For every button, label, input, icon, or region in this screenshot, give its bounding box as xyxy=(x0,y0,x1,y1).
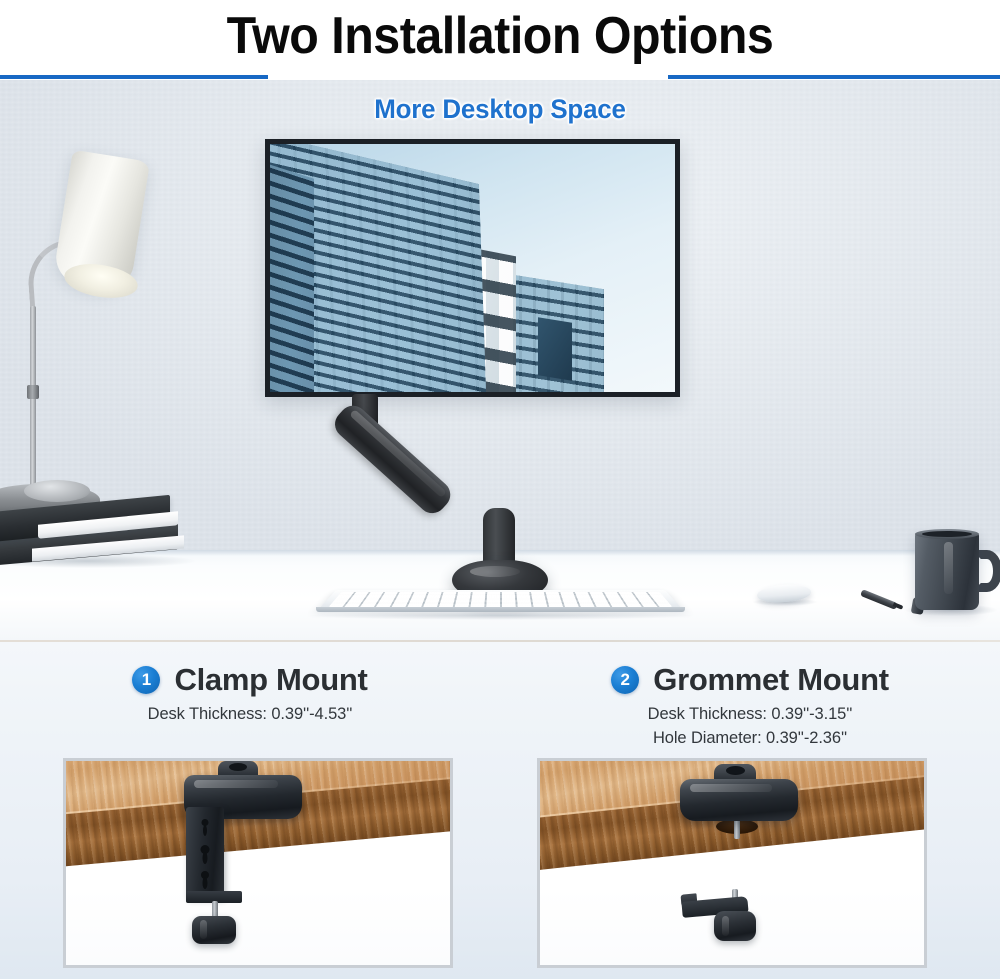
option-2-number-badge: 2 xyxy=(611,666,639,694)
option-1-number-badge: 1 xyxy=(132,666,160,694)
option-1-title: Clamp Mount xyxy=(174,664,367,695)
screen-building-main-side-windows xyxy=(270,162,314,392)
clamp-slot-3 xyxy=(203,877,208,889)
keyboard-shadow xyxy=(310,611,692,620)
title-bar: Two Installation Options xyxy=(0,0,1000,72)
option-2-spec-hole-diameter: Hole Diameter: 0.39''-2.36'' xyxy=(508,726,993,750)
option-clamp-mount: 1 Clamp Mount Desk Thickness: 0.39''-4.5… xyxy=(0,642,500,979)
page-title: Two Installation Options xyxy=(227,10,774,62)
mug-inner xyxy=(922,531,972,537)
infographic-page: Two Installation Options More Desktop Sp… xyxy=(0,0,1000,979)
grommet-tightening-knob xyxy=(714,911,756,941)
hero-scene: More Desktop Space xyxy=(0,80,1000,640)
divider-segment-right xyxy=(668,75,1000,79)
grommet-base-highlight xyxy=(690,784,772,792)
monitor-screen xyxy=(270,144,675,392)
clamp-post-hole xyxy=(229,763,247,771)
installation-options-section: 1 Clamp Mount Desk Thickness: 0.39''-4.5… xyxy=(0,642,1000,979)
option-2-title: Grommet Mount xyxy=(653,664,888,695)
clamp-knob-highlight xyxy=(200,920,207,939)
screen-building-main-side xyxy=(270,162,314,392)
screen-building-right-dark xyxy=(538,317,572,380)
hero-subtitle: More Desktop Space xyxy=(20,94,980,125)
monitor-arm-base-highlight xyxy=(470,566,520,577)
grommet-mount-image-panel xyxy=(537,758,927,968)
clamp-mount-image-panel xyxy=(63,758,453,968)
option-2-specs: Desk Thickness: 0.39''-3.15'' Hole Diame… xyxy=(500,702,1000,750)
keyboard-keys xyxy=(329,592,673,607)
grommet-post-hole xyxy=(726,766,745,775)
monitor xyxy=(265,139,680,397)
clamp-slot-1 xyxy=(203,825,207,836)
lamp-pole xyxy=(30,306,36,496)
lamp-collar xyxy=(27,385,39,399)
option-1-spec-desk-thickness: Desk Thickness: 0.39''-4.53'' xyxy=(8,702,493,726)
option-grommet-mount: 2 Grommet Mount Desk Thickness: 0.39''-3… xyxy=(500,642,1000,979)
clamp-base-highlight xyxy=(194,780,278,788)
keyboard-edge xyxy=(316,607,685,612)
option-2-heading: 2 Grommet Mount xyxy=(500,664,1000,695)
option-2-spec-desk-thickness: Desk Thickness: 0.39''-3.15'' xyxy=(508,702,993,726)
option-1-specs: Desk Thickness: 0.39''-4.53'' xyxy=(0,702,500,726)
clamp-slot-2 xyxy=(203,852,208,864)
option-1-heading: 1 Clamp Mount xyxy=(0,664,500,695)
blue-divider xyxy=(0,72,1000,80)
divider-segment-left xyxy=(0,75,268,79)
clamp-tightening-knob xyxy=(192,916,236,944)
grommet-knob-highlight xyxy=(722,916,729,936)
mug-highlight xyxy=(944,542,953,594)
clamp-vertical-plate xyxy=(186,807,224,899)
lamp-base-top xyxy=(24,480,90,502)
